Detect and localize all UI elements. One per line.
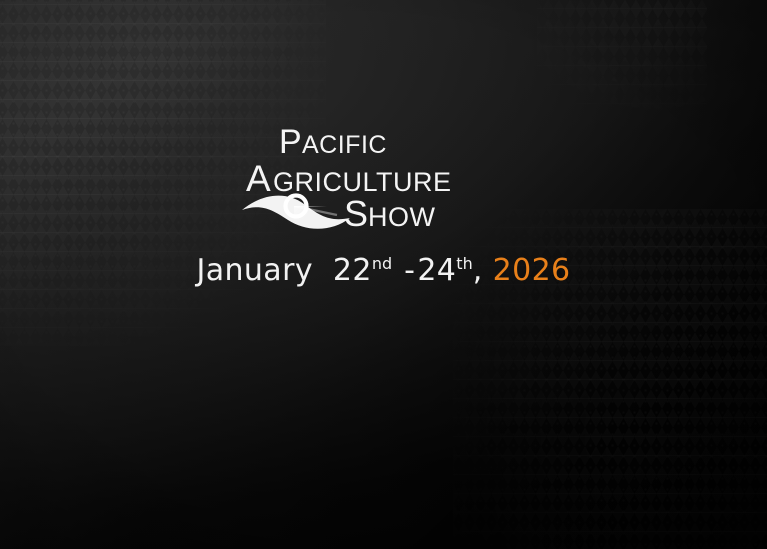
event-date: January 22nd -24th, 2026 bbox=[0, 256, 767, 286]
slide-canvas: P ACIFIC A GRICULTURE S HOW January 22nd… bbox=[0, 0, 767, 549]
event-day-start: 22 bbox=[333, 253, 372, 288]
event-day-end: 24 bbox=[417, 253, 456, 288]
svg-text:P: P bbox=[279, 123, 302, 161]
event-day-start-suffix: nd bbox=[372, 254, 392, 273]
logo-word-show: S HOW bbox=[344, 193, 436, 234]
seed-swoosh-icon bbox=[242, 196, 350, 229]
event-date-comma: , bbox=[473, 253, 483, 288]
pacific-agriculture-show-logo: P ACIFIC A GRICULTURE S HOW bbox=[234, 118, 534, 240]
event-day-end-suffix: th bbox=[456, 254, 472, 273]
logo-word-pacific: P ACIFIC bbox=[279, 123, 387, 161]
svg-text:A: A bbox=[246, 158, 271, 199]
svg-text:ACIFIC: ACIFIC bbox=[302, 131, 387, 159]
slide-content: P ACIFIC A GRICULTURE S HOW January 22nd… bbox=[0, 0, 767, 549]
event-month: January bbox=[196, 253, 313, 288]
svg-text:S: S bbox=[344, 193, 369, 234]
svg-text:HOW: HOW bbox=[368, 202, 436, 232]
event-year: 2026 bbox=[493, 253, 571, 288]
event-date-separator: - bbox=[402, 253, 417, 288]
